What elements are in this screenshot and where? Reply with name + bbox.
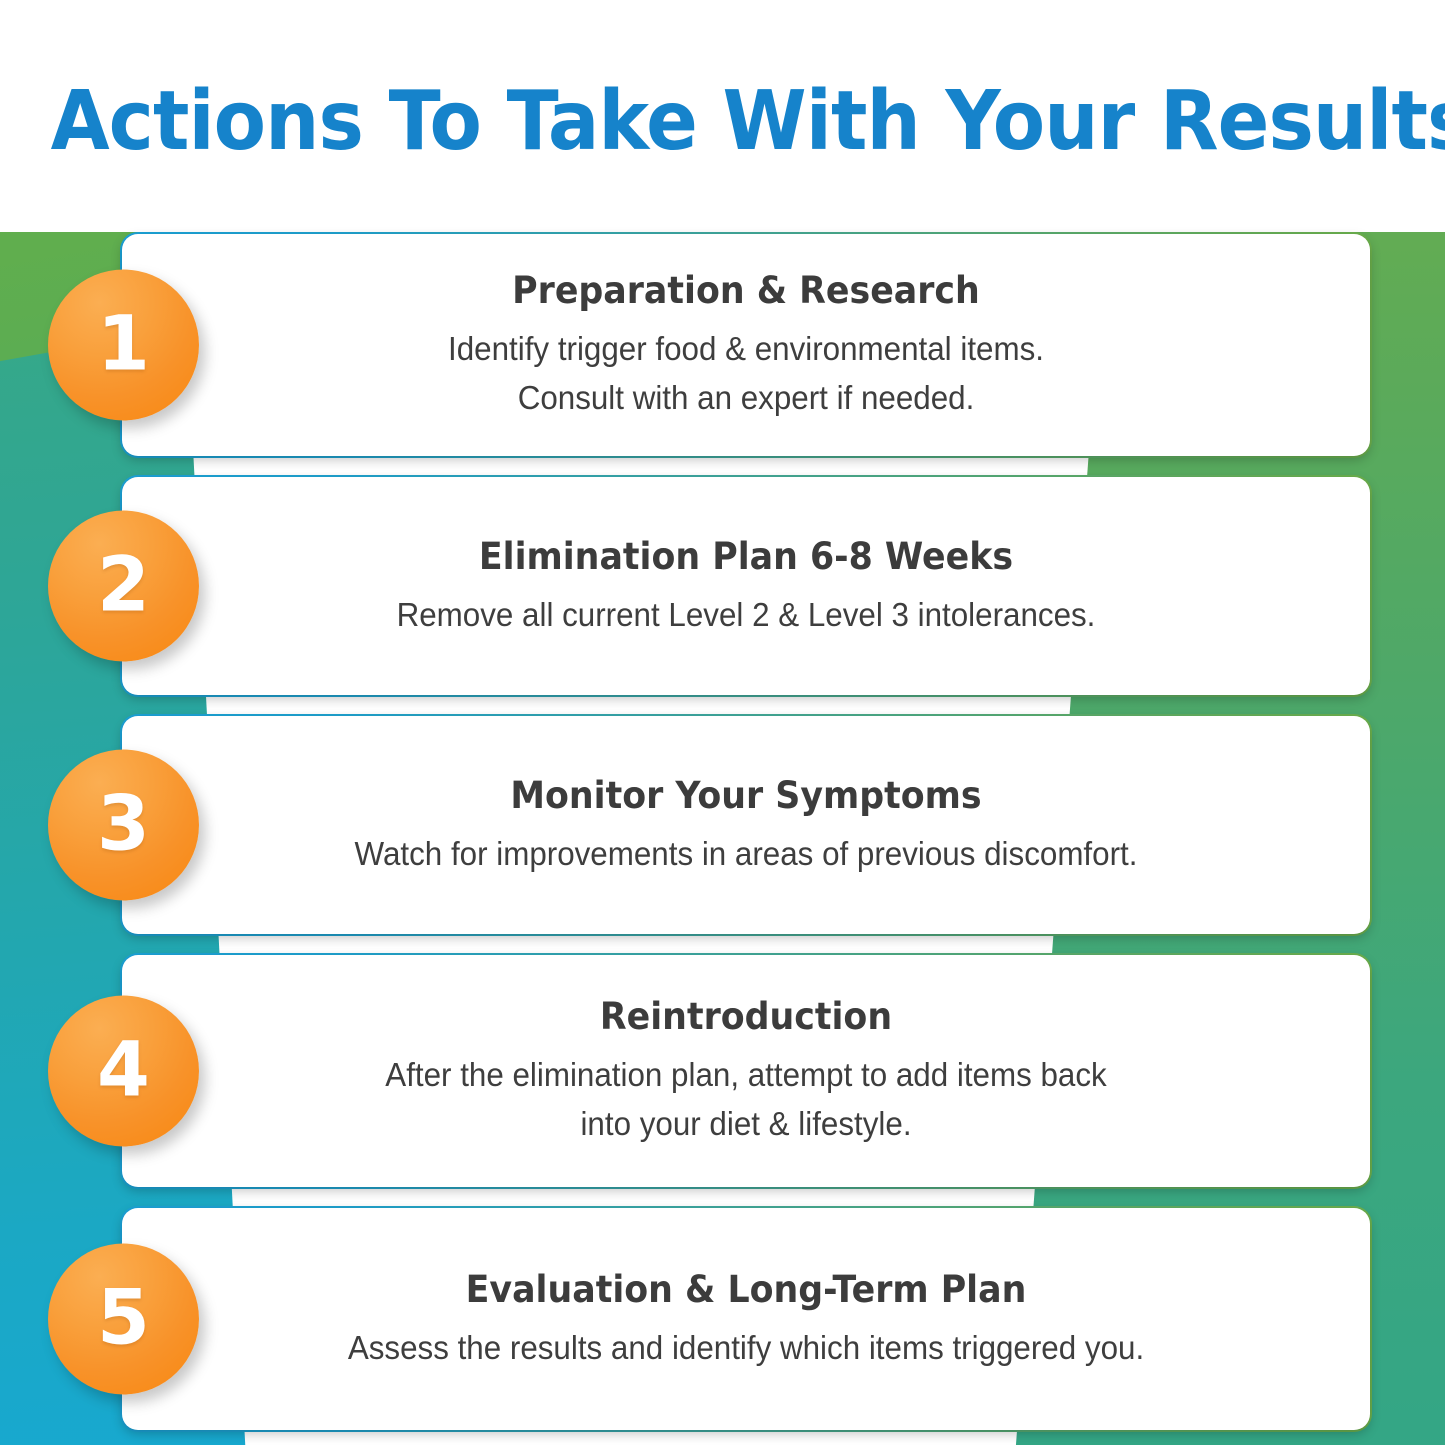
step-badge-4: 4 <box>48 996 199 1147</box>
step-badge-1: 1 <box>48 270 199 421</box>
list-item: 1 Preparation & Research Identify trigge… <box>122 234 1370 456</box>
step-number: 5 <box>97 1279 150 1355</box>
step-body: Watch for improvements in areas of previ… <box>208 829 1283 878</box>
list-item: 4 Reintroduction After the elimination p… <box>122 955 1370 1187</box>
list-item: 3 Monitor Your Symptoms Watch for improv… <box>122 716 1370 934</box>
list-item: 5 Evaluation & Long-Term Plan Assess the… <box>122 1208 1370 1430</box>
steps-list: 1 Preparation & Research Identify trigge… <box>122 234 1370 1451</box>
step-body: Remove all current Level 2 & Level 3 int… <box>208 590 1283 639</box>
step-number: 4 <box>97 1031 150 1107</box>
step-card-5[interactable]: Evaluation & Long-Term Plan Assess the r… <box>122 1208 1370 1430</box>
step-heading: Reintroduction <box>214 994 1278 1040</box>
step-number: 1 <box>97 305 150 381</box>
step-number: 3 <box>97 785 150 861</box>
step-body: Identify trigger food & environmental it… <box>208 324 1283 422</box>
step-card-2[interactable]: Elimination Plan 6-8 Weeks Remove all cu… <box>122 477 1370 695</box>
step-heading: Preparation & Research <box>214 268 1278 314</box>
step-heading: Evaluation & Long-Term Plan <box>214 1267 1278 1313</box>
step-badge-2: 2 <box>48 511 199 662</box>
step-card-1[interactable]: Preparation & Research Identify trigger … <box>122 234 1370 456</box>
step-badge-3: 3 <box>48 750 199 901</box>
list-item: 2 Elimination Plan 6-8 Weeks Remove all … <box>122 477 1370 695</box>
step-body: After the elimination plan, attempt to a… <box>208 1050 1283 1148</box>
step-badge-5: 5 <box>48 1244 199 1395</box>
step-card-3[interactable]: Monitor Your Symptoms Watch for improvem… <box>122 716 1370 934</box>
step-card-4[interactable]: Reintroduction After the elimination pla… <box>122 955 1370 1187</box>
page-title: Actions To Take With Your Results <box>51 74 1395 170</box>
step-body: Assess the results and identify which it… <box>208 1323 1283 1372</box>
infographic-page: { "header": { "title": "Actions To Take … <box>0 0 1445 1445</box>
step-heading: Elimination Plan 6-8 Weeks <box>214 534 1278 580</box>
step-number: 2 <box>97 546 150 622</box>
step-heading: Monitor Your Symptoms <box>214 773 1278 819</box>
